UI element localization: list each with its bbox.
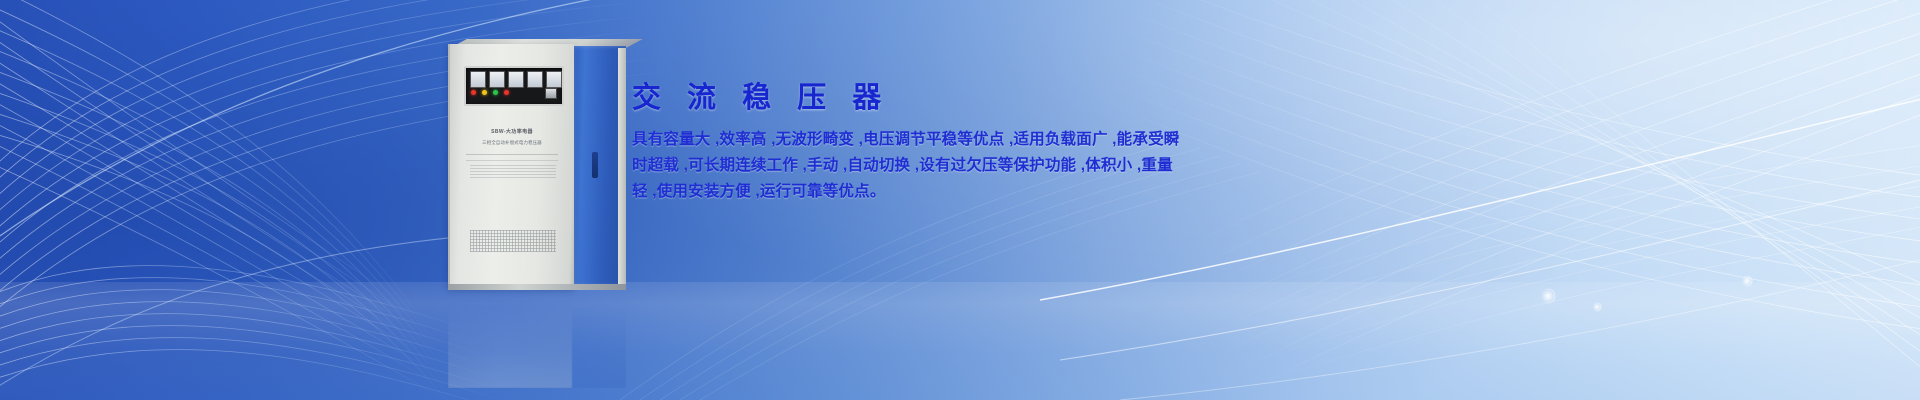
lamp-red-2-icon <box>504 90 509 95</box>
cabinet-vent-grille <box>470 230 556 252</box>
product-image: SBW-大功率电器 三相全自动补偿式电力稳压器 <box>448 44 626 292</box>
meter-gauges <box>470 71 562 88</box>
description-line: 轻 ,使用安装方便 ,运行可靠等优点。 <box>632 179 1172 205</box>
banner-title: 交 流 稳 压 器 <box>632 78 1172 118</box>
cabinet-handle <box>592 152 598 178</box>
lamp-green-icon <box>493 90 498 95</box>
banner-description: 具有容量大 ,效率高 ,无波形畸变 ,电压调节平稳等优点 ,适用负载面广 ,能承… <box>632 127 1172 205</box>
cabinet-seam-line <box>466 154 558 155</box>
product-reflection <box>448 292 626 388</box>
lamp-yellow-icon <box>482 90 487 95</box>
cabinet-base <box>448 284 626 290</box>
product-banner: SBW-大功率电器 三相全自动补偿式电力稳压器 交 流 稳 压 器 具有容量大 … <box>0 0 1920 400</box>
nameplate-description: 三相全自动补偿式电力稳压器 <box>466 139 558 147</box>
control-knob <box>545 88 557 99</box>
meter-gauge <box>489 71 505 88</box>
lamp-red-1-icon <box>471 90 476 95</box>
meter-gauge <box>470 71 486 88</box>
cabinet-seam-line <box>466 160 558 161</box>
meter-gauge <box>546 71 562 88</box>
background-floor-reflection <box>0 282 1920 400</box>
nameplate-model: SBW-大功率电器 <box>466 128 558 136</box>
cabinet-upper-vent <box>470 164 556 178</box>
meter-gauge <box>527 71 543 88</box>
cabinet-side-edge <box>618 48 626 286</box>
indicator-lamps <box>471 90 509 95</box>
meter-gauge <box>508 71 524 88</box>
cabinet-front-panel: SBW-大功率电器 三相全自动补偿式电力稳压器 <box>448 44 574 288</box>
description-line: 具有容量大 ,效率高 ,无波形畸变 ,电压调节平稳等优点 ,适用负载面广 ,能承… <box>632 127 1172 153</box>
description-line: 时超载 ,可长期连续工作 ,手动 ,自动切换 ,设有过欠压等保护功能 ,体积小 … <box>632 153 1172 179</box>
banner-copy: 交 流 稳 压 器 具有容量大 ,效率高 ,无波形畸变 ,电压调节平稳等优点 ,… <box>632 78 1172 205</box>
cabinet-nameplate: SBW-大功率电器 三相全自动补偿式电力稳压器 <box>466 128 558 147</box>
control-panel <box>464 66 564 106</box>
